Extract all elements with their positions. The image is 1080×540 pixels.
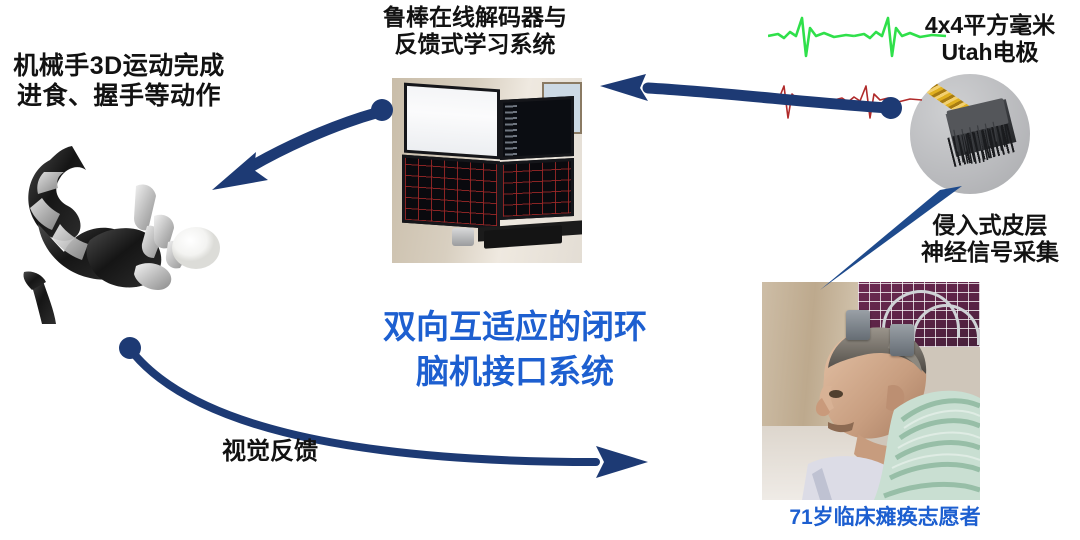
system-title: 双向互适应的闭环 脑机接口系统	[355, 305, 675, 394]
decoder-label: 鲁棒在线解码器与 反馈式学习系统	[340, 4, 610, 58]
utah-electrode-label: 4x4平方毫米 Utah电极	[900, 12, 1080, 66]
decoder-to-hand-arrow	[212, 99, 393, 190]
invasive-signal-acquisition-label: 侵入式皮层 神经信号采集	[900, 212, 1080, 266]
robotic-hand-label: 机械手3D运动完成 进食、握手等动作	[4, 52, 234, 111]
volunteer-caption: 71岁临床瘫痪志愿者	[740, 506, 1030, 531]
electrode-to-decoder-arrow	[600, 74, 902, 119]
bci-system-diagram: 机械手3D运动完成 进食、握手等动作 鲁棒在线解码器与 反馈式学习系统 4x4平…	[0, 0, 1080, 540]
visual-feedback-label: 视觉反馈	[195, 438, 345, 466]
